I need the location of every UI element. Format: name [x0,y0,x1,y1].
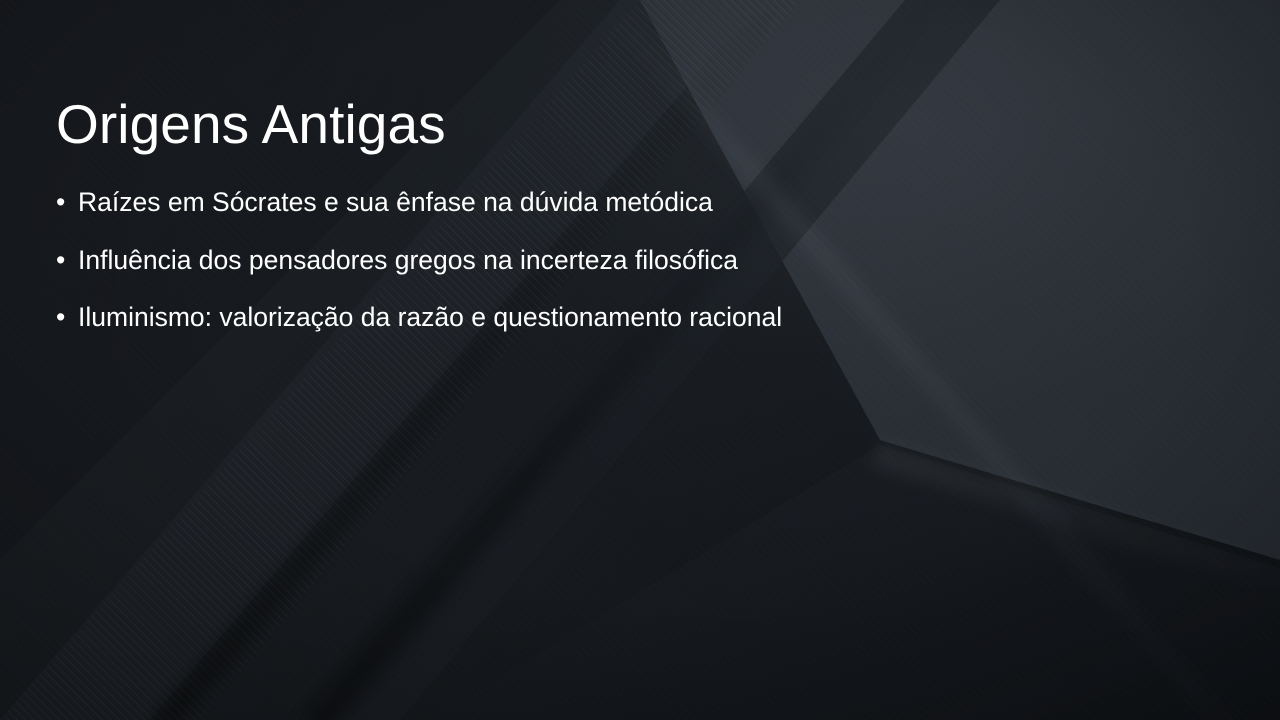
bullet-point-icon: • [56,303,78,333]
bullet-point-icon: • [56,246,78,276]
bullet-item-1: • Raízes em Sócrates e sua ênfase na dúv… [56,188,1196,218]
presentation-slide: Origens Antigas • Raízes em Sócrates e s… [0,0,1280,720]
bullet-item-2: • Influência dos pensadores gregos na in… [56,246,1196,276]
bullet-list: • Raízes em Sócrates e sua ênfase na dúv… [56,188,1196,361]
bullet-point-icon: • [56,188,78,218]
bullet-item-3: • Iluminismo: valorização da razão e que… [56,303,1196,333]
slide-title: Origens Antigas [56,94,446,155]
bullet-text-1: Raízes em Sócrates e sua ênfase na dúvid… [78,188,713,218]
bullet-text-3: Iluminismo: valorização da razão e quest… [78,303,782,333]
slide-content: Origens Antigas • Raízes em Sócrates e s… [0,0,1280,720]
bullet-text-2: Influência dos pensadores gregos na ince… [78,246,738,276]
